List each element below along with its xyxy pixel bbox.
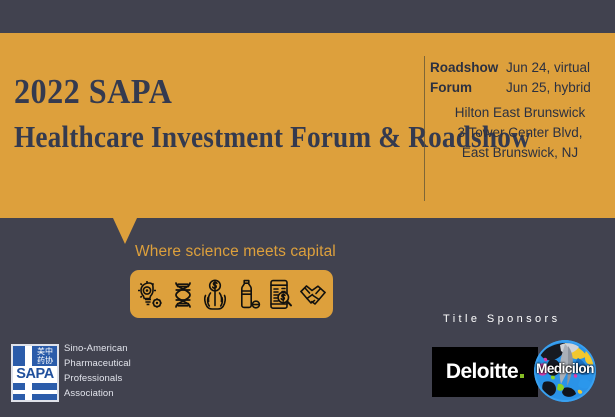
forum-date: Jun 25, hybrid bbox=[506, 78, 591, 98]
title-line-1: 2022 SAPA bbox=[14, 74, 382, 109]
banner-speech-tail bbox=[113, 218, 137, 244]
sponsor-logo-deloitte: Deloitte bbox=[432, 347, 538, 397]
forum-label: Forum bbox=[430, 78, 506, 98]
banner-divider bbox=[424, 56, 425, 201]
venue-street: 3 Tower Center Blvd, bbox=[430, 123, 610, 143]
sapa-logo-chinese-characters: 美中药协 bbox=[34, 347, 56, 365]
detail-row-roadshow: Roadshow Jun 24, virtual bbox=[430, 58, 610, 78]
handshake-icon bbox=[299, 278, 327, 311]
tagline: Where science meets capital bbox=[135, 243, 336, 261]
hands-growth-dollar-icon bbox=[201, 278, 229, 311]
roadshow-label: Roadshow bbox=[430, 58, 506, 78]
org-name-line-3: Professionals bbox=[64, 371, 131, 386]
event-poster: 2022 SAPA Healthcare Investment Forum & … bbox=[0, 0, 615, 417]
document-dollar-magnifier-icon bbox=[266, 278, 294, 311]
event-details: Roadshow Jun 24, virtual Forum Jun 25, h… bbox=[430, 58, 610, 163]
venue-address: Hilton East Brunswick 3 Tower Center Blv… bbox=[430, 103, 610, 163]
lightbulb-innovation-icon bbox=[136, 278, 164, 311]
bottle-pills-icon bbox=[234, 278, 262, 311]
org-name-line-4: Association bbox=[64, 386, 131, 401]
roadshow-date: Jun 24, virtual bbox=[506, 58, 590, 78]
venue-name: Hilton East Brunswick bbox=[430, 103, 610, 123]
title-line-2: Healthcare Investment Forum & Roadshow bbox=[14, 121, 366, 152]
dna-helix-icon bbox=[169, 278, 197, 311]
page-title: 2022 SAPA Healthcare Investment Forum & … bbox=[14, 74, 414, 152]
organization-name: Sino-American Pharmaceutical Professiona… bbox=[64, 341, 131, 401]
deloitte-green-dot bbox=[520, 374, 524, 378]
sponsor-logo-medicilon: Medicilon bbox=[534, 340, 596, 402]
org-name-line-2: Pharmaceutical bbox=[64, 356, 131, 371]
medicilon-wordmark: Medicilon bbox=[534, 361, 596, 376]
theme-icon-strip bbox=[130, 270, 333, 318]
sapa-logo: 美中药协 SAPA bbox=[11, 344, 59, 402]
sapa-logo-wordmark: SAPA bbox=[11, 367, 59, 382]
sapa-logo-lower-band bbox=[13, 390, 57, 394]
org-name-line-1: Sino-American bbox=[64, 341, 131, 356]
deloitte-wordmark: Deloitte bbox=[446, 360, 518, 383]
venue-city-state: East Brunswick, NJ bbox=[430, 143, 610, 163]
detail-row-forum: Forum Jun 25, hybrid bbox=[430, 78, 610, 98]
sponsors-heading: Title Sponsors bbox=[443, 313, 561, 325]
